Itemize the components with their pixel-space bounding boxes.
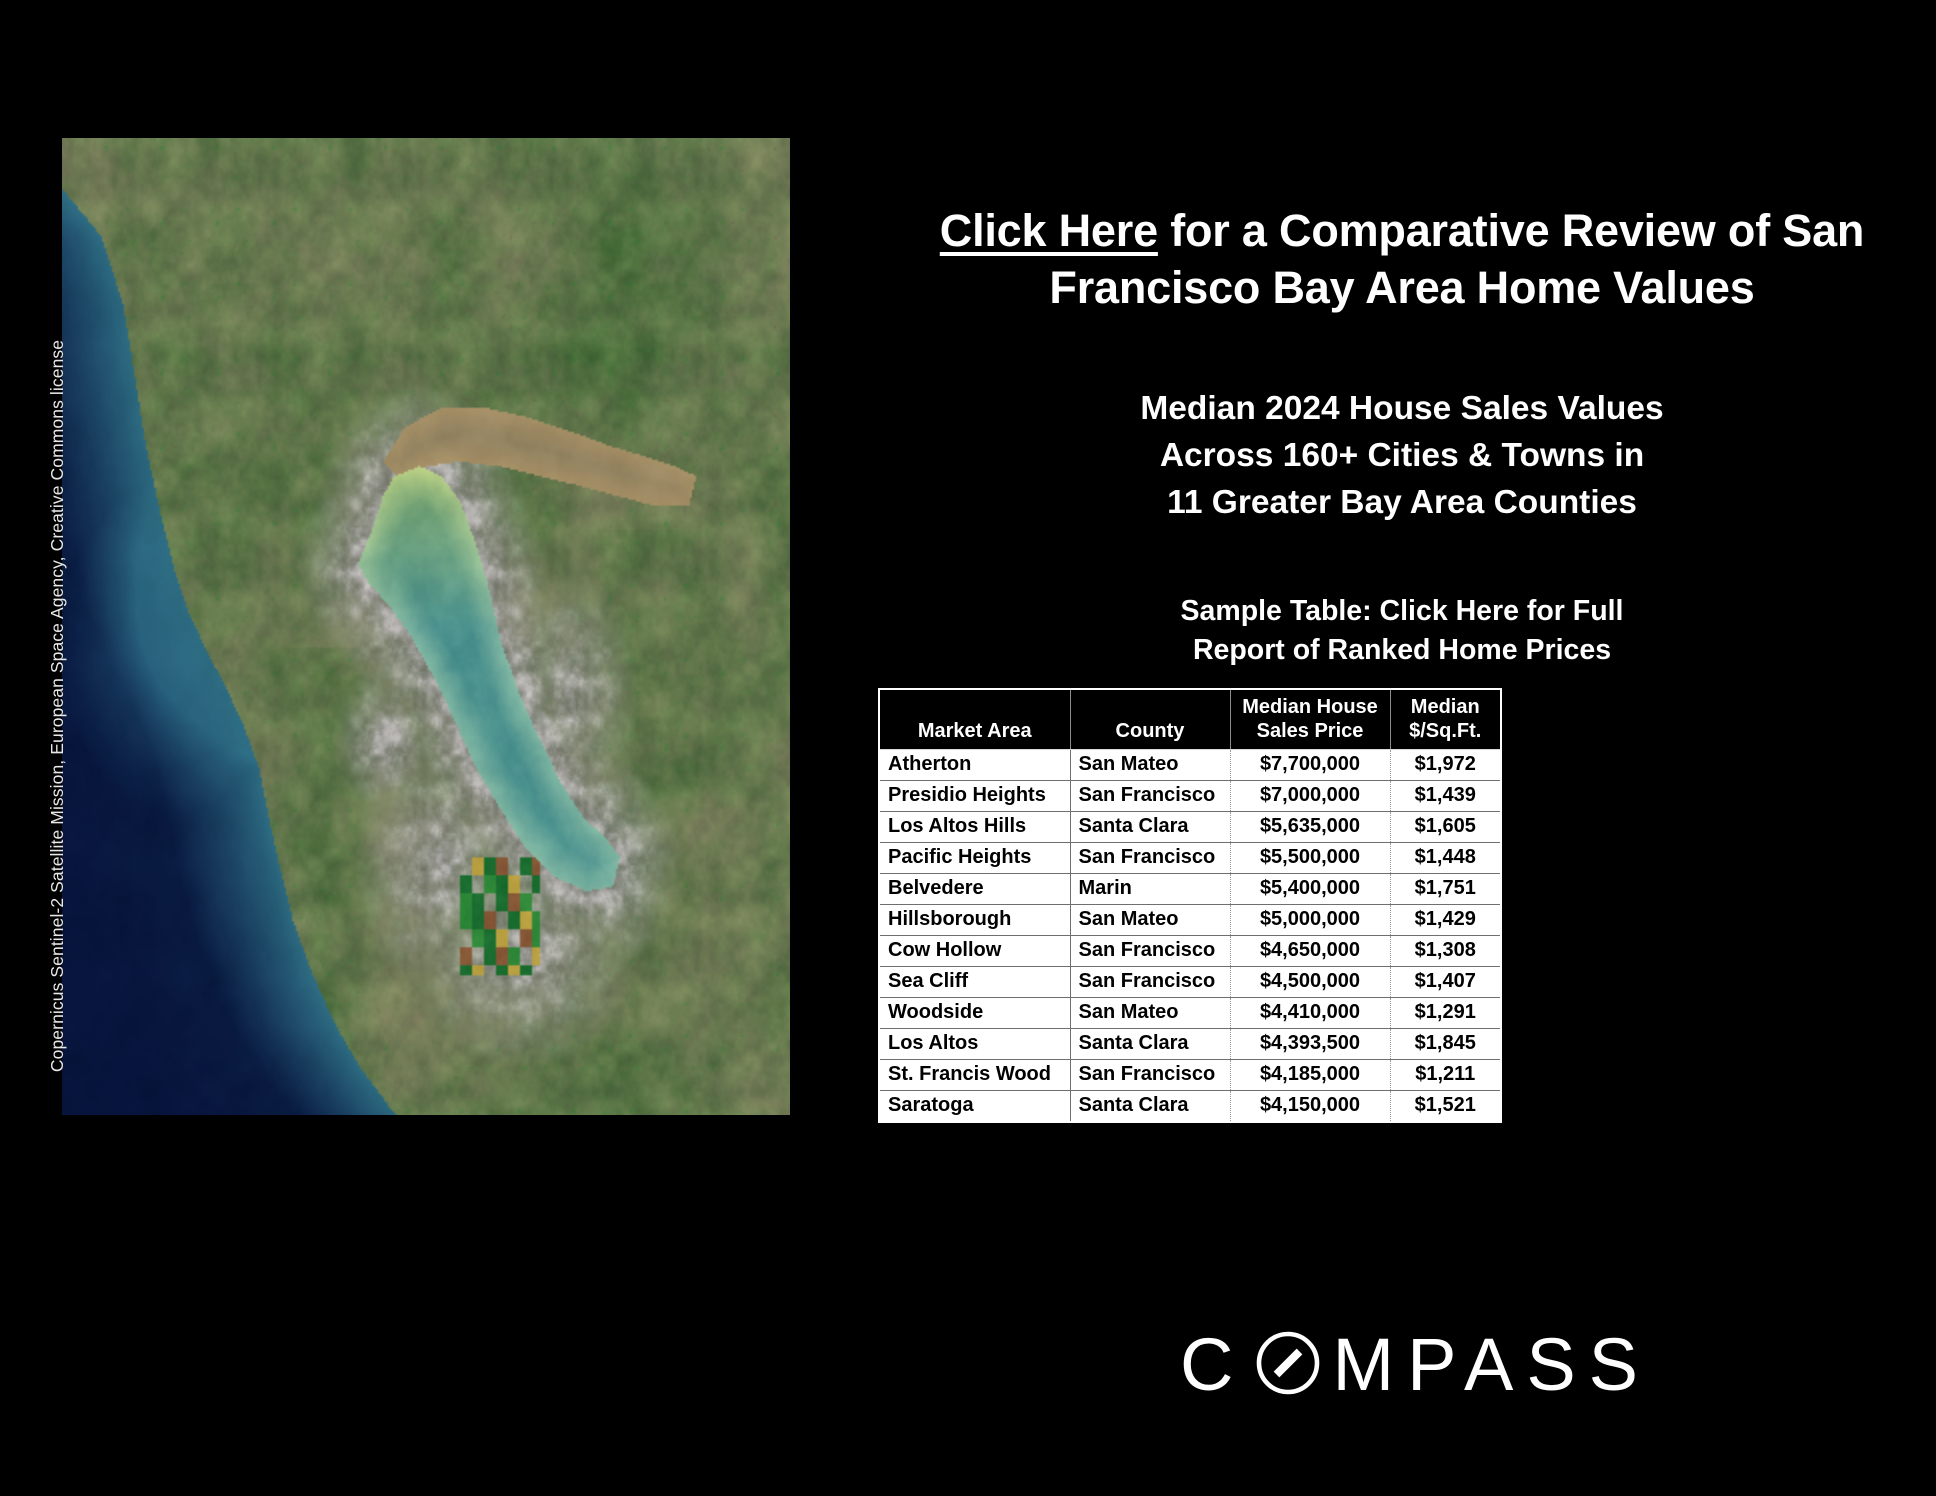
table-row: Los AltosSanta Clara$4,393,500$1,845 [880,1029,1500,1060]
cell-market-area: Los Altos [880,1029,1070,1060]
compass-logo-text-after: MPASS [1332,1322,1651,1408]
cell-county: Santa Clara [1070,1029,1230,1060]
right-content-column: Click Here for a Comparative Review of S… [862,0,1936,1496]
cell-median-sqft: $1,448 [1390,843,1500,874]
page-title: Click Here for a Comparative Review of S… [902,202,1902,316]
table-row: WoodsideSan Mateo$4,410,000$1,291 [880,998,1500,1029]
cell-county: San Francisco [1070,967,1230,998]
table-row: Cow HollowSan Francisco$4,650,000$1,308 [880,936,1500,967]
column-header-sqft-line-1: Median [1399,695,1493,719]
cell-market-area: Saratoga [880,1091,1070,1122]
cell-median-price: $4,150,000 [1230,1091,1390,1122]
cell-median-sqft: $1,407 [1390,967,1500,998]
cell-median-sqft: $1,972 [1390,750,1500,781]
column-header-county: County [1070,690,1230,750]
image-credit-text: Copernicus Sentinel-2 Satellite Mission,… [41,311,73,1101]
cell-county: San Mateo [1070,998,1230,1029]
table-row: Presidio HeightsSan Francisco$7,000,000$… [880,781,1500,812]
cell-median-price: $7,700,000 [1230,750,1390,781]
compass-o-slash-icon [1255,1330,1321,1401]
cell-median-sqft: $1,439 [1390,781,1500,812]
cell-market-area: St. Francis Wood [880,1060,1070,1091]
table-row: HillsboroughSan Mateo$5,000,000$1,429 [880,905,1500,936]
cell-median-price: $5,400,000 [1230,874,1390,905]
cell-median-price: $4,185,000 [1230,1060,1390,1091]
cell-county: San Mateo [1070,750,1230,781]
satellite-image [62,138,790,1115]
cell-median-price: $7,000,000 [1230,781,1390,812]
cell-median-price: $4,650,000 [1230,936,1390,967]
cell-market-area: Belvedere [880,874,1070,905]
cell-median-price: $4,393,500 [1230,1029,1390,1060]
page-title-rest: for a Comparative Review of San Francisc… [1049,205,1864,313]
column-header-sqft-line-2: $/Sq.Ft. [1399,719,1493,743]
cell-market-area: Presidio Heights [880,781,1070,812]
cell-median-sqft: $1,291 [1390,998,1500,1029]
table-row: BelvedereMarin$5,400,000$1,751 [880,874,1500,905]
cell-county: San Francisco [1070,781,1230,812]
column-header-price-line-1: Median House [1239,695,1382,719]
table-header: Market Area County Median House Sales Pr… [880,690,1500,750]
cell-market-area: Hillsborough [880,905,1070,936]
home-prices-table-container: Market Area County Median House Sales Pr… [878,688,1502,1123]
column-header-price-line-2: Sales Price [1239,719,1382,743]
click-here-link[interactable]: Click Here [940,205,1158,256]
table-header-row: Market Area County Median House Sales Pr… [880,690,1500,750]
compass-logo: C MPASS [1180,1322,1651,1408]
cell-median-price: $5,500,000 [1230,843,1390,874]
cell-median-sqft: $1,521 [1390,1091,1500,1122]
cell-county: San Francisco [1070,936,1230,967]
cell-market-area: Los Altos Hills [880,812,1070,843]
cell-county: San Francisco [1070,1060,1230,1091]
cell-median-sqft: $1,308 [1390,936,1500,967]
column-header-median-per-sqft: Median $/Sq.Ft. [1390,690,1500,750]
satellite-image-canvas [62,138,790,1115]
cell-county: Santa Clara [1070,812,1230,843]
table-caption-line-1: Sample Table: Click Here for Full [902,592,1902,631]
table-row: SaratogaSanta Clara$4,150,000$1,521 [880,1091,1500,1122]
cell-market-area: Atherton [880,750,1070,781]
subtitle-line-1: Median 2024 House Sales Values [902,385,1902,432]
cell-county: San Francisco [1070,843,1230,874]
cell-market-area: Pacific Heights [880,843,1070,874]
cell-median-sqft: $1,845 [1390,1029,1500,1060]
home-prices-table: Market Area County Median House Sales Pr… [880,690,1500,1121]
subtitle-line-3: 11 Greater Bay Area Counties [902,479,1902,526]
column-header-market-area: Market Area [880,690,1070,750]
table-row: Pacific HeightsSan Francisco$5,500,000$1… [880,843,1500,874]
cell-median-price: $4,410,000 [1230,998,1390,1029]
cell-median-price: $5,635,000 [1230,812,1390,843]
cell-market-area: Woodside [880,998,1070,1029]
cell-median-price: $5,000,000 [1230,905,1390,936]
cell-median-sqft: $1,605 [1390,812,1500,843]
cell-median-sqft: $1,211 [1390,1060,1500,1091]
cell-median-price: $4,500,000 [1230,967,1390,998]
cell-county: Marin [1070,874,1230,905]
table-row: AthertonSan Mateo$7,700,000$1,972 [880,750,1500,781]
cell-county: San Mateo [1070,905,1230,936]
table-caption[interactable]: Sample Table: Click Here for Full Report… [902,592,1902,670]
table-row: St. Francis WoodSan Francisco$4,185,000$… [880,1060,1500,1091]
cell-median-sqft: $1,429 [1390,905,1500,936]
table-row: Sea CliffSan Francisco$4,500,000$1,407 [880,967,1500,998]
cell-market-area: Cow Hollow [880,936,1070,967]
compass-logo-text-before: C [1180,1322,1246,1408]
table-body: AthertonSan Mateo$7,700,000$1,972Presidi… [880,750,1500,1122]
cell-market-area: Sea Cliff [880,967,1070,998]
table-caption-line-2: Report of Ranked Home Prices [902,631,1902,670]
column-header-median-house-sales-price: Median House Sales Price [1230,690,1390,750]
table-row: Los Altos HillsSanta Clara$5,635,000$1,6… [880,812,1500,843]
subtitle: Median 2024 House Sales Values Across 16… [902,385,1902,526]
cell-median-sqft: $1,751 [1390,874,1500,905]
subtitle-line-2: Across 160+ Cities & Towns in [902,432,1902,479]
cell-county: Santa Clara [1070,1091,1230,1122]
